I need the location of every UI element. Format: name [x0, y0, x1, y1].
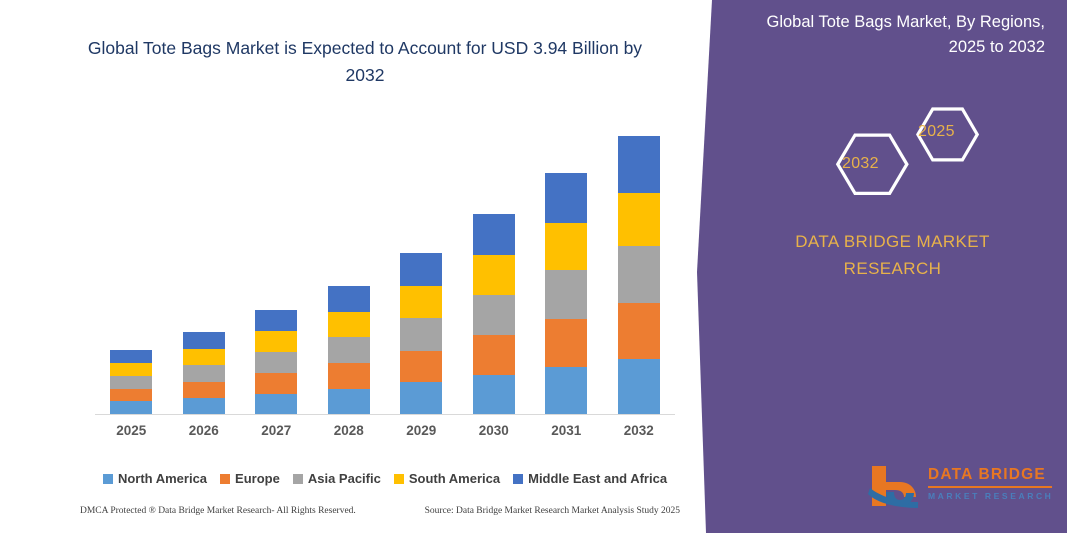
bar-column: [530, 173, 602, 414]
x-axis-label-2031: 2031: [530, 423, 602, 445]
bar-segment: [110, 350, 152, 363]
infographic-canvas: Global Tote Bags Market is Expected to A…: [0, 0, 1067, 533]
bar-segment: [545, 319, 587, 367]
bar-segment: [328, 389, 370, 414]
hexagon-2025-label: 2025: [918, 123, 955, 141]
bar-segment: [255, 394, 297, 414]
data-bridge-logo: DATA BRIDGE MARKET RESEARCH: [866, 462, 1056, 514]
bar-segment: [545, 173, 587, 222]
legend-swatch-icon: [103, 474, 113, 484]
logo-sub-text: MARKET RESEARCH: [928, 491, 1053, 501]
bar-segment: [400, 382, 442, 414]
hexagon-group: 2032 2025: [814, 93, 994, 203]
bar-segment: [255, 352, 297, 373]
stacked-bar-2028: [328, 286, 370, 414]
panel-content: Global Tote Bags Market, By Regions, 202…: [718, 0, 1067, 533]
legend-label: Europe: [235, 471, 280, 486]
legend-item[interactable]: South America: [394, 471, 500, 486]
brand-line-2: RESEARCH: [718, 255, 1067, 282]
x-axis-label-2025: 2025: [95, 423, 167, 445]
x-axis-line: [95, 414, 675, 415]
chart-title: Global Tote Bags Market is Expected to A…: [70, 35, 660, 89]
bar-segment: [618, 359, 660, 414]
legend-label: Middle East and Africa: [528, 471, 667, 486]
bar-segment: [618, 303, 660, 359]
legend-item[interactable]: Europe: [220, 471, 280, 486]
legend-swatch-icon: [220, 474, 230, 484]
bar-segment: [473, 375, 515, 415]
hexagon-2032-label: 2032: [842, 155, 879, 173]
bar-segment: [400, 351, 442, 383]
legend-label: South America: [409, 471, 500, 486]
stacked-bar-2026: [183, 332, 225, 414]
bar-segment: [255, 310, 297, 331]
bar-segment: [618, 246, 660, 303]
stacked-bar-2025: [110, 350, 152, 414]
bar-segment: [183, 398, 225, 414]
bar-segment: [473, 295, 515, 335]
bar-segment: [618, 193, 660, 246]
bar-segment: [255, 373, 297, 393]
brand-line-1: DATA BRIDGE MARKET: [718, 228, 1067, 255]
footer-source: Source: Data Bridge Market Research Mark…: [425, 506, 680, 516]
bar-segment: [545, 367, 587, 414]
bar-segment: [255, 331, 297, 351]
bar-segment: [545, 223, 587, 270]
legend-swatch-icon: [394, 474, 404, 484]
bar-segment: [183, 332, 225, 349]
bar-segment: [110, 401, 152, 414]
bar-segment: [618, 136, 660, 193]
x-axis-label-2030: 2030: [458, 423, 530, 445]
stacked-bar-group: [95, 110, 675, 414]
bar-column: [168, 332, 240, 414]
bar-segment: [400, 318, 442, 350]
legend-label: Asia Pacific: [308, 471, 381, 486]
bar-segment: [400, 286, 442, 318]
legend-item[interactable]: Asia Pacific: [293, 471, 381, 486]
bar-segment: [328, 337, 370, 363]
logo-wordmark: DATA BRIDGE MARKET RESEARCH: [928, 466, 1053, 501]
x-axis-label-2028: 2028: [313, 423, 385, 445]
bar-column: [313, 286, 385, 414]
bar-column: [95, 350, 167, 414]
legend-swatch-icon: [293, 474, 303, 484]
bar-segment: [473, 255, 515, 295]
bar-segment: [473, 214, 515, 255]
bar-column: [458, 214, 530, 414]
bar-segment: [183, 382, 225, 398]
footer: DMCA Protected ® Data Bridge Market Rese…: [80, 506, 680, 516]
bar-column: [240, 310, 312, 414]
bar-column: [385, 253, 457, 414]
legend-label: North America: [118, 471, 207, 486]
legend-swatch-icon: [513, 474, 523, 484]
footer-copyright: DMCA Protected ® Data Bridge Market Rese…: [80, 506, 356, 516]
stacked-bar-2029: [400, 253, 442, 414]
x-axis-label-2029: 2029: [385, 423, 457, 445]
bar-segment: [400, 253, 442, 286]
logo-mark-icon: [866, 462, 924, 510]
stacked-bar-2030: [473, 214, 515, 414]
panel-title: Global Tote Bags Market, By Regions, 202…: [735, 10, 1045, 60]
bar-segment: [473, 335, 515, 375]
x-axis-label-2032: 2032: [603, 423, 675, 445]
bar-segment: [110, 389, 152, 402]
bar-column: [603, 136, 675, 414]
stacked-bar-2031: [545, 173, 587, 414]
bar-segment: [328, 312, 370, 337]
bar-segment: [183, 365, 225, 381]
x-axis-label-2027: 2027: [240, 423, 312, 445]
bar-segment: [545, 270, 587, 319]
brand-name: DATA BRIDGE MARKET RESEARCH: [718, 228, 1067, 282]
legend-item[interactable]: Middle East and Africa: [513, 471, 667, 486]
logo-main-text: DATA BRIDGE: [928, 466, 1053, 483]
logo-divider: [928, 486, 1052, 488]
legend-item[interactable]: North America: [103, 471, 207, 486]
x-axis-labels: 20252026202720282029203020312032: [95, 423, 675, 445]
stacked-bar-2032: [618, 136, 660, 414]
bar-segment: [110, 363, 152, 376]
bar-segment: [328, 286, 370, 312]
chart-legend: North AmericaEuropeAsia PacificSouth Ame…: [95, 471, 675, 486]
bar-segment: [328, 363, 370, 388]
chart-plot-area: [95, 110, 675, 415]
x-axis-label-2026: 2026: [168, 423, 240, 445]
bar-segment: [110, 376, 152, 389]
stacked-bar-2027: [255, 310, 297, 414]
bar-segment: [183, 349, 225, 365]
